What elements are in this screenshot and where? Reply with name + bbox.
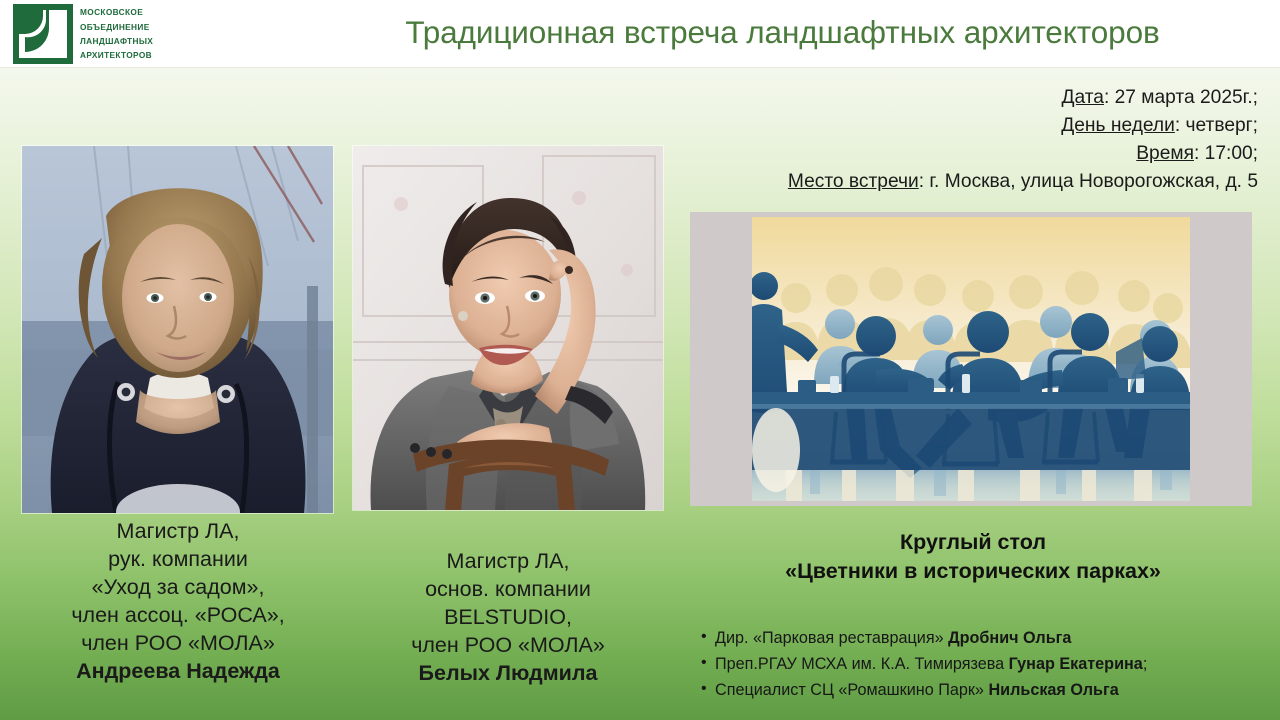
caption-belyh: Магистр ЛА, основ. компании BELSTUDIO, ч… [348, 548, 668, 688]
list-item: Преп.РГАУ МСХА им. К.А. Тимирязева Гунар… [700, 651, 1270, 677]
speaker-role: Дир. «Парковая реставрация» [715, 629, 948, 647]
page-header: МОСКОВСКОЕ ОБЪЕДИНЕНИЕ ЛАНДШАФТНЫХ АРХИТ… [0, 0, 1280, 68]
speaker-photo-belyh [353, 146, 663, 510]
list-item: Специалист СЦ «Ромашкино Парк» Нильская … [700, 677, 1270, 703]
mola-leaf-square-logo [13, 4, 73, 64]
speaker-name: Нильская Ольга [988, 681, 1118, 699]
round-table-title-line-2: «Цветники в исторических парках» [690, 557, 1256, 586]
caption-line: BELSTUDIO, [348, 604, 668, 632]
event-date-label: Дата [1061, 87, 1104, 108]
round-table-title: Круглый стол «Цветники в исторических па… [690, 528, 1256, 586]
caption-line: основ. компании [348, 576, 668, 604]
event-details: Дата: 27 марта 2025г.; День недели: четв… [658, 84, 1258, 196]
caption-line: член РОО «МОЛА» [10, 630, 346, 658]
event-time-value: : 17:00; [1194, 143, 1258, 164]
event-weekday-value: : четверг; [1175, 115, 1258, 136]
event-time-label: Время [1136, 143, 1194, 164]
speaker-tail: ; [1143, 655, 1148, 673]
speaker-name: Гунар Екатерина [1009, 655, 1143, 673]
logo-word-line-3: ЛАНДШАФТНЫХ [80, 34, 153, 48]
list-item: Дир. «Парковая реставрация» Дробнич Ольг… [700, 625, 1270, 651]
round-table-illustration [690, 212, 1252, 506]
logo-word-line-2: ОБЪЕДИНЕНИЕ [80, 20, 153, 34]
round-table-speaker-list: Дир. «Парковая реставрация» Дробнич Ольг… [700, 625, 1270, 704]
caption-andreeva: Магистр ЛА, рук. компании «Уход за садом… [10, 518, 346, 686]
event-weekday-row: День недели: четверг; [658, 112, 1258, 140]
round-table-title-line-1: Круглый стол [690, 528, 1256, 557]
event-time-row: Время: 17:00; [658, 140, 1258, 168]
speaker-name: Дробнич Ольга [948, 629, 1071, 647]
logo-word-line-4: АРХИТЕКТОРОВ [80, 48, 153, 62]
event-place-value: : г. Москва, улица Новорогожская, д. 5 [919, 171, 1258, 192]
organization-logo: МОСКОВСКОЕ ОБЪЕДИНЕНИЕ ЛАНДШАФТНЫХ АРХИТ… [13, 4, 153, 64]
page-title: Традиционная встреча ландшафтных архитек… [300, 14, 1265, 51]
speaker-role: Специалист СЦ «Ромашкино Парк» [715, 681, 988, 699]
speaker-name-andreeva: Андреева Надежда [10, 658, 346, 686]
caption-line: Магистр ЛА, [10, 518, 346, 546]
caption-line: рук. компании [10, 546, 346, 574]
caption-line: «Уход за садом», [10, 574, 346, 602]
event-place-label: Место встречи [788, 171, 919, 192]
logo-word-line-1: МОСКОВСКОЕ [80, 5, 153, 19]
speaker-photo-andreeva [22, 146, 333, 513]
event-place-row: Место встречи: г. Москва, улица Новорого… [658, 168, 1258, 196]
speaker-name-belyh: Белых Людмила [348, 660, 668, 688]
logo-wordmark: МОСКОВСКОЕ ОБЪЕДИНЕНИЕ ЛАНДШАФТНЫХ АРХИТ… [80, 5, 153, 62]
event-date-row: Дата: 27 марта 2025г.; [658, 84, 1258, 112]
caption-line: Магистр ЛА, [348, 548, 668, 576]
speaker-role: Преп.РГАУ МСХА им. К.А. Тимирязева [715, 655, 1009, 673]
caption-line: член РОО «МОЛА» [348, 632, 668, 660]
event-weekday-label: День недели [1061, 115, 1175, 136]
caption-line: член ассоц. «РОСА», [10, 602, 346, 630]
event-date-value: : 27 марта 2025г.; [1104, 87, 1258, 108]
